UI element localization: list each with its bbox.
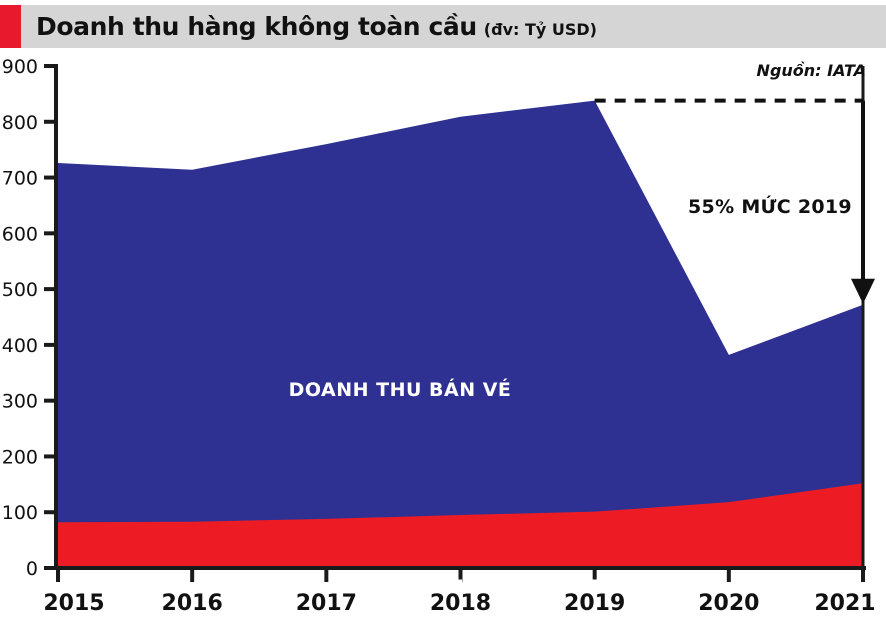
y-axis-tick-labels: 0100200300400500600700800900: [2, 56, 38, 580]
header-accent-bar: [0, 5, 21, 48]
series-label-ban-ve: DOANH THU BÁN VÉ: [289, 378, 512, 401]
x-axis-tick-label: 2021: [814, 591, 875, 616]
series-label-van-tai: DOANH THU VẬN TẢI: [393, 573, 624, 598]
x-axis-tick-label: 2017: [296, 591, 357, 616]
y-axis-tick-label: 700: [2, 168, 38, 190]
y-axis-tick-label: 300: [2, 391, 38, 413]
source-label: Nguồn: IATA: [757, 61, 866, 80]
y-axis-tick-label: 100: [2, 502, 38, 524]
x-axis-tick-label: 2015: [43, 591, 104, 616]
stacked-area-chart: 0100200300400500600700800900 20152016201…: [0, 48, 886, 618]
header-text-group: Doanh thu hàng không toàn cầu (đv: Tỷ US…: [21, 14, 597, 39]
y-axis-tick-label: 0: [26, 558, 38, 580]
y-axis-tick-label: 500: [2, 279, 38, 301]
y-axis-tick-label: 200: [2, 446, 38, 468]
y-axis-tick-label: 800: [2, 112, 38, 134]
y-axis-tick-label: 600: [2, 223, 38, 245]
chart-header-band: Doanh thu hàng không toàn cầu (đv: Tỷ US…: [0, 5, 886, 48]
page-title: Doanh thu hàng không toàn cầu: [36, 14, 477, 39]
y-axis: 0100200300400500600700800900: [2, 56, 58, 580]
x-axis-tick-label: 2020: [698, 591, 759, 616]
unit-label: (đv: Tỷ USD): [484, 22, 597, 38]
y-axis-tick-label: 400: [2, 335, 38, 357]
x-axis-tick-label: 2016: [162, 591, 223, 616]
y-axis-tick-label: 900: [2, 56, 38, 78]
chart-container: 0100200300400500600700800900 20152016201…: [0, 48, 886, 618]
drop-annotation-label: 55% MỨC 2019: [688, 194, 852, 218]
